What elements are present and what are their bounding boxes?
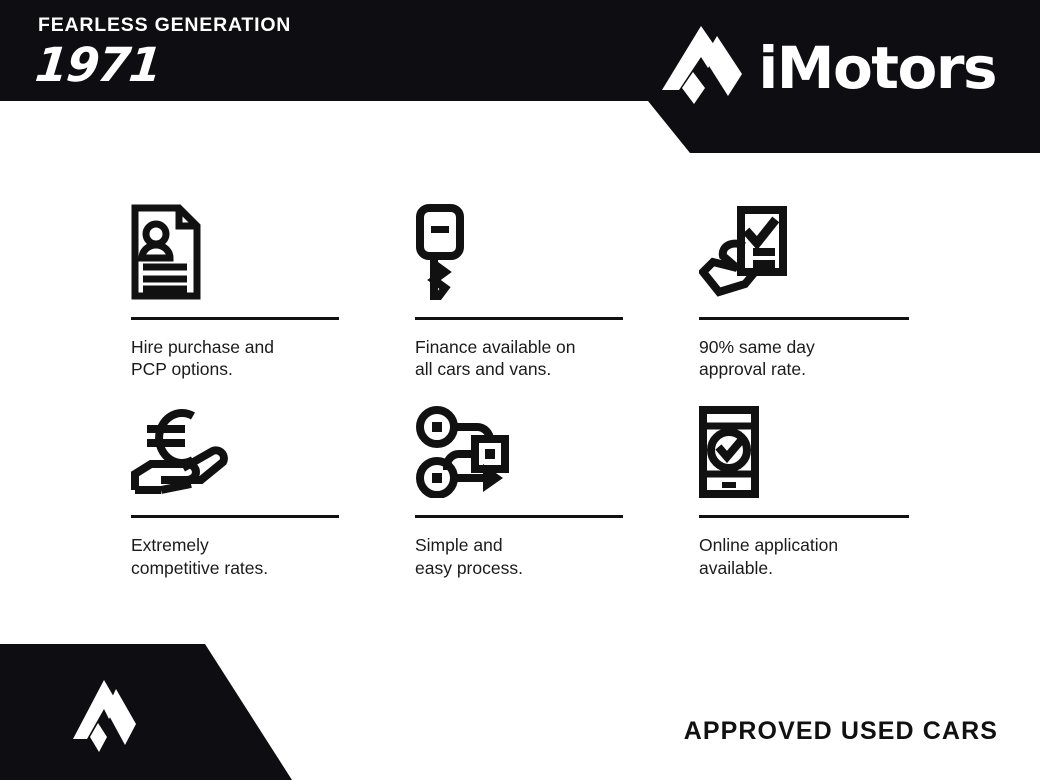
feature-card-online-application: Online application available.: [699, 394, 909, 578]
card-divider: [415, 515, 623, 518]
feature-label: Online application available.: [699, 534, 909, 578]
tagline-block: FEARLESS GENERATION 1971: [38, 16, 368, 89]
card-divider: [699, 317, 909, 320]
card-divider: [131, 317, 339, 320]
card-divider: [699, 515, 909, 518]
feature-label: Hire purchase and PCP options.: [131, 336, 339, 380]
hand-holding-checklist-icon: [699, 196, 909, 300]
feature-label: Extremely competitive rates.: [131, 534, 339, 578]
feature-card-approval-rate: 90% same day approval rate.: [699, 196, 909, 380]
year-mark-1971: 1971: [33, 42, 368, 89]
brand-name-text: iMotors: [758, 39, 996, 97]
card-divider: [131, 515, 339, 518]
feature-card-hire-purchase: Hire purchase and PCP options.: [131, 196, 339, 380]
feature-card-finance-available: Finance available on all cars and vans.: [415, 196, 623, 380]
feature-label: Simple and easy process.: [415, 534, 623, 578]
imotors-chevron-logo-icon: [660, 26, 742, 110]
feature-card-competitive-rates: Extremely competitive rates.: [131, 394, 339, 578]
feature-label: Finance available on all cars and vans.: [415, 336, 623, 380]
smartphone-check-icon: [699, 394, 909, 498]
promotional-banner: FEARLESS GENERATION 1971 iMotors: [0, 0, 1040, 780]
car-key-icon: [415, 196, 623, 300]
document-person-icon: [131, 196, 339, 300]
footer-shape: [0, 644, 300, 780]
footer-caption-text: APPROVED USED CARS: [684, 717, 998, 746]
feature-grid: Hire purchase and PCP options. Finance a…: [131, 196, 909, 579]
hand-euro-icon: [131, 394, 339, 498]
card-divider: [415, 317, 623, 320]
feature-label: 90% same day approval rate.: [699, 336, 909, 380]
feature-card-simple-process: Simple and easy process.: [415, 394, 623, 578]
brand-logo-block[interactable]: iMotors: [660, 26, 996, 110]
tagline-text: FEARLESS GENERATION: [38, 16, 368, 36]
process-flow-icon: [415, 394, 623, 498]
